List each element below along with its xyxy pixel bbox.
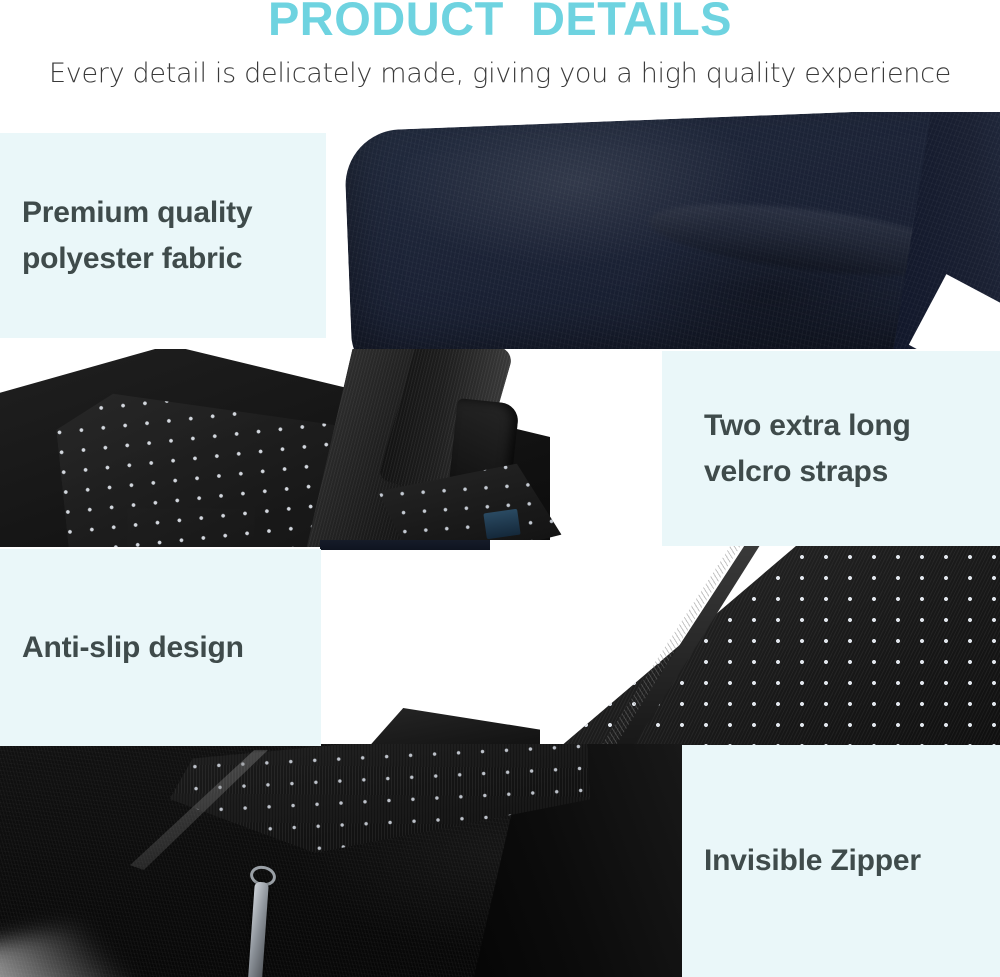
photo-invisible-zipper [0, 744, 690, 977]
feature-label-text: Anti-slip design [22, 625, 244, 671]
photo-velcro-straps [0, 349, 690, 547]
feature-label-premium-fabric: Premium quality polyester fabric [0, 133, 326, 338]
product-details-infographic: PRODUCT DETAILS Every detail is delicate… [0, 0, 1000, 977]
header: PRODUCT DETAILS Every detail is delicate… [0, 0, 1000, 110]
feature-label-text: Invisible Zipper [704, 838, 921, 884]
anti-slip-dotted-sheet [510, 540, 1000, 752]
brand-tag [483, 509, 520, 539]
page-subtitle: Every detail is delicately made, giving … [0, 58, 1000, 89]
feature-label-text: Premium quality polyester fabric [22, 190, 252, 281]
photo-premium-fabric [320, 112, 1000, 349]
anti-slip-top-strip [320, 540, 490, 550]
feature-label-invisible-zipper: Invisible Zipper [682, 745, 1000, 977]
photo-anti-slip-surface [320, 540, 1000, 752]
page-title: PRODUCT DETAILS [0, 0, 1000, 46]
feature-label-text: Two extra long velcro straps [704, 403, 911, 494]
feature-label-anti-slip: Anti-slip design [0, 549, 321, 746]
feature-label-velcro-straps: Two extra long velcro straps [662, 351, 1000, 546]
